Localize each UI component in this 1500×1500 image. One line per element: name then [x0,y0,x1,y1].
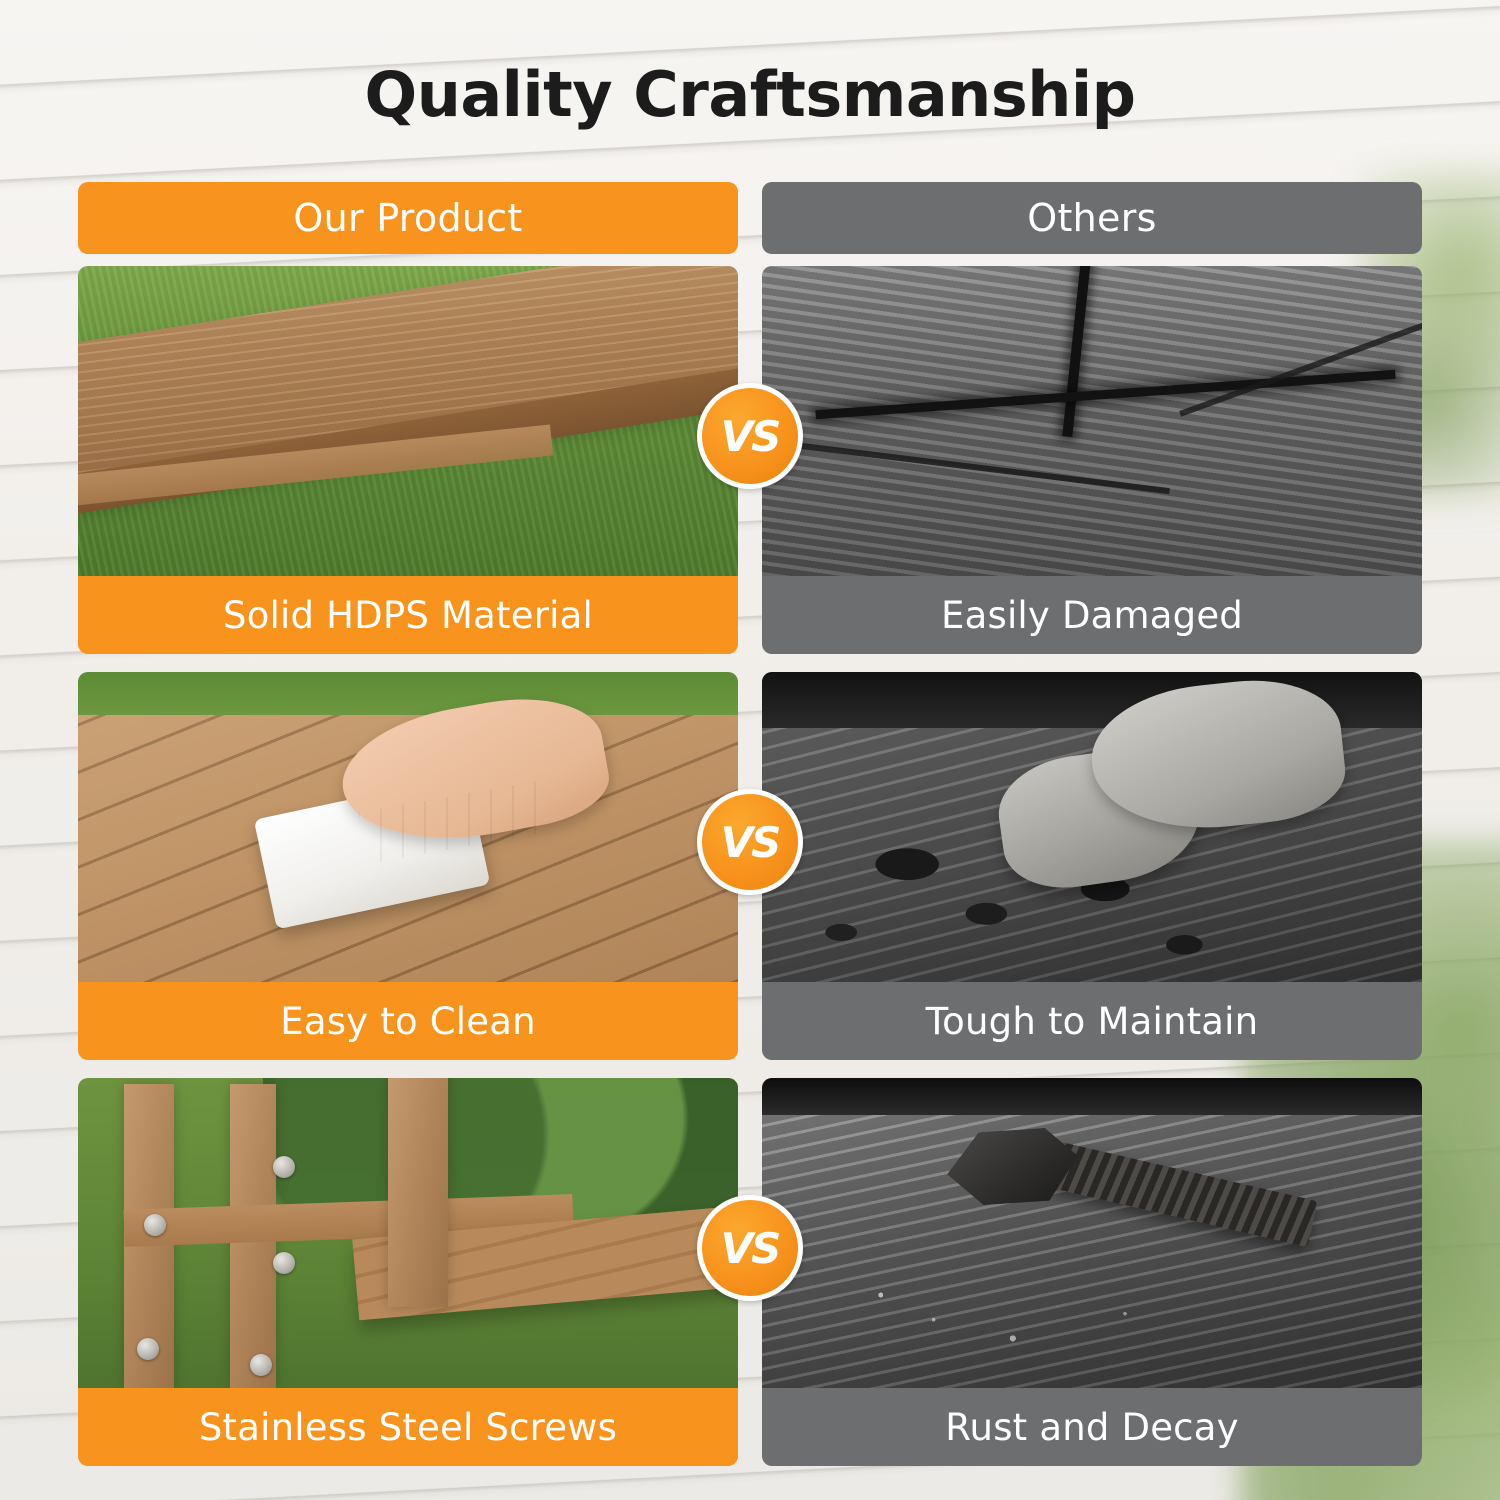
our-product-caption-3: Stainless Steel Screws [78,1388,738,1466]
vs-badge-1: VS [697,383,803,489]
column-header-our-product-label: Our Product [293,196,522,240]
column-headers: Our Product Others [78,182,1422,254]
our-product-card-1: Solid HDPS Material [78,266,738,654]
others-photo-1 [762,266,1422,576]
weathered-wood-background-1 [762,266,1422,576]
vs-badge-2: VS [697,789,803,895]
our-product-photo-2 [78,672,738,982]
others-photo-2 [762,672,1422,982]
our-product-photo-1 [78,266,738,576]
column-header-our-product: Our Product [78,182,738,254]
comparison-grid: Our Product Others Solid HDPS Material V… [78,182,1422,1484]
comparison-row-3: Stainless Steel Screws VS Rust and Decay [78,1078,1422,1466]
vs-badge-label-2: VS [721,818,780,867]
others-caption-2: Tough to Maintain [762,982,1422,1060]
vs-badge-label-3: VS [721,1224,780,1273]
others-card-2: Tough to Maintain [762,672,1422,1060]
others-photo-3 [762,1078,1422,1388]
stainless-screw-5 [250,1354,272,1376]
column-header-others-label: Others [1027,196,1157,240]
others-caption-3: Rust and Decay [762,1388,1422,1466]
wood-debris [762,1078,1422,1388]
grass-strip-2 [78,672,738,722]
column-header-others: Others [762,182,1422,254]
others-caption-1: Easily Damaged [762,576,1422,654]
page-title: Quality Craftsmanship [0,58,1500,131]
our-product-caption-2: Easy to Clean [78,982,738,1060]
our-product-photo-3 [78,1078,738,1388]
stainless-screw-2 [273,1252,295,1274]
our-product-card-3: Stainless Steel Screws [78,1078,738,1466]
vs-badge-3: VS [697,1195,803,1301]
comparison-row-1: Solid HDPS Material VS Easily Damaged [78,266,1422,654]
stainless-screw-1 [273,1156,295,1178]
vs-badge-label-1: VS [721,412,780,461]
others-card-1: Easily Damaged [762,266,1422,654]
our-product-card-2: Easy to Clean [78,672,738,1060]
others-card-3: Rust and Decay [762,1078,1422,1466]
table-leg-right [388,1078,447,1307]
comparison-row-2: Easy to Clean VS Tough to Maintain [78,672,1422,1060]
product-comparison-infographic: Quality Craftsmanship Our Product Others… [0,0,1500,1500]
our-product-caption-1: Solid HDPS Material [78,576,738,654]
